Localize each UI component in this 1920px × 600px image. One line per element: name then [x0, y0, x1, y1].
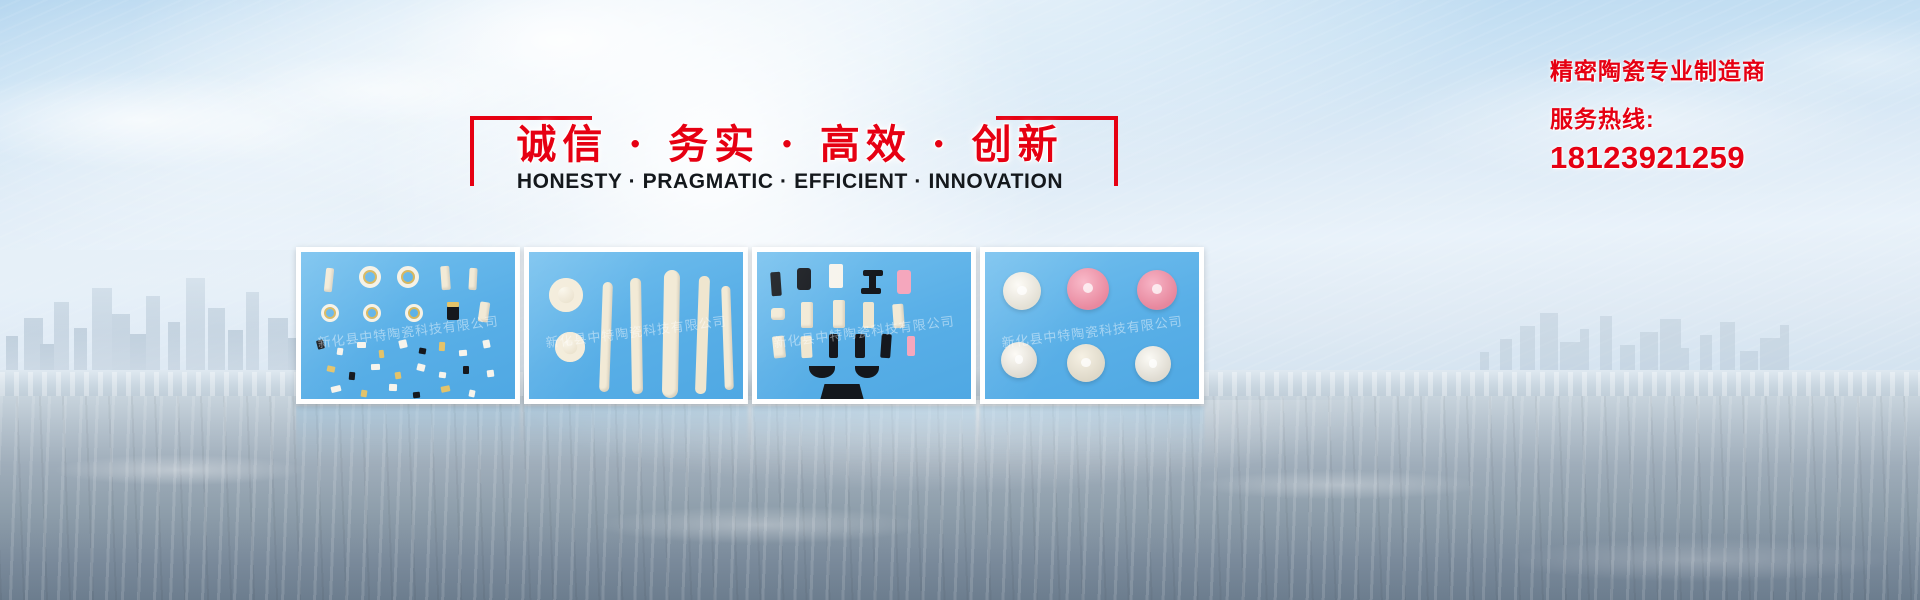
product-panel-ceramic-tubes[interactable]: 新化县中特陶瓷科技有限公司 [524, 247, 748, 404]
slogan-chinese: 诚信 · 务实 · 高效 · 创新 [470, 112, 1110, 170]
product-panel-smd-components[interactable]: 新化县中特陶瓷科技有限公司 [296, 247, 520, 404]
panel-gloss [985, 252, 1199, 399]
contact-block: 精密陶瓷专业制造商 服务热线: 18123921259 [1550, 52, 1880, 176]
slogan-block: 诚信 · 务实 · 高效 · 创新 HONESTY · PRAGMATIC · … [470, 108, 1110, 203]
hotline-label: 服务热线: [1550, 100, 1880, 134]
product-gallery: 新化县中特陶瓷科技有限公司 新化县中特陶瓷科技有限公司 新化县中特陶瓷科技有限公… [296, 247, 1576, 404]
company-tagline: 精密陶瓷专业制造商 [1550, 52, 1880, 86]
panel-reflections [296, 406, 1576, 464]
product-panel-ceramic-discs[interactable]: 新化县中特陶瓷科技有限公司 [980, 247, 1204, 404]
slogan-english: HONESTY · PRAGMATIC · EFFICIENT · INNOVA… [470, 170, 1110, 194]
hotline-number[interactable]: 18123921259 [1550, 140, 1880, 176]
product-panel-ceramic-blocks[interactable]: 新化县中特陶瓷科技有限公司 [752, 247, 976, 404]
panel-gloss [529, 252, 743, 399]
banner-stage: 诚信 · 务实 · 高效 · 创新 HONESTY · PRAGMATIC · … [0, 0, 1920, 600]
panel-gloss [757, 252, 971, 399]
panel-gloss [301, 252, 515, 399]
